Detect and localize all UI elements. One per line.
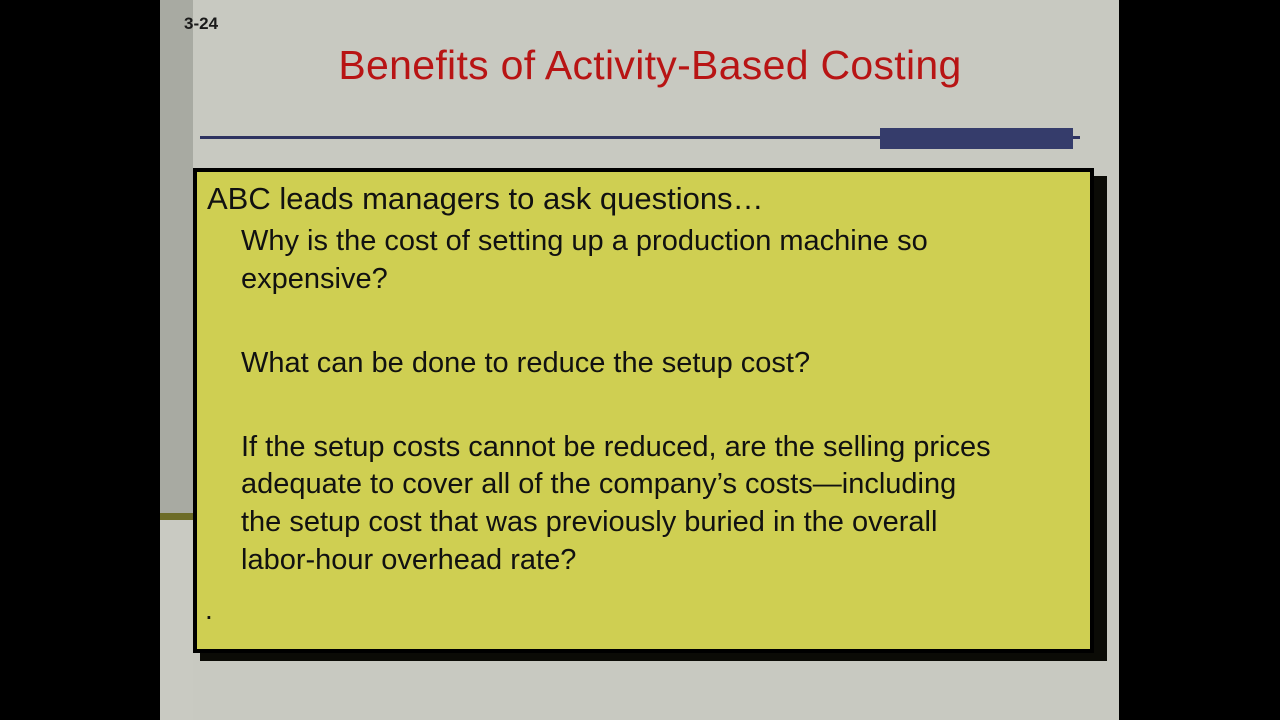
title-accent-block bbox=[880, 128, 1073, 149]
letterbox-stage: 3-24 Benefits of Activity-Based Costing … bbox=[0, 0, 1280, 720]
panel-lead-text: ABC leads managers to ask questions… bbox=[207, 182, 1076, 215]
question-3-line-2: adequate to cover all of the company’s c… bbox=[241, 466, 1076, 504]
question-block-3: If the setup costs cannot be reduced, ar… bbox=[241, 429, 1076, 580]
question-1-line-1: Why is the cost of setting up a producti… bbox=[241, 223, 1076, 261]
left-band-accent-strip bbox=[160, 513, 193, 520]
question-1-line-2: expensive? bbox=[241, 261, 1076, 299]
content-panel-inner: ABC leads managers to ask questions… Why… bbox=[197, 172, 1090, 649]
slide-number: 3-24 bbox=[184, 14, 218, 34]
left-decorative-band bbox=[160, 0, 193, 513]
question-3-line-3: the setup cost that was previously burie… bbox=[241, 504, 1076, 542]
question-block-1: Why is the cost of setting up a producti… bbox=[241, 223, 1076, 298]
question-block-2: What can be done to reduce the setup cos… bbox=[241, 345, 1076, 383]
presentation-slide: 3-24 Benefits of Activity-Based Costing … bbox=[160, 0, 1119, 720]
question-2-line-1: What can be done to reduce the setup cos… bbox=[241, 345, 1076, 383]
trailing-bullet-mark: . bbox=[205, 596, 213, 624]
question-3-line-4: labor-hour overhead rate? bbox=[241, 542, 1076, 580]
question-3-line-1: If the setup costs cannot be reduced, ar… bbox=[241, 429, 1076, 467]
left-band-lower bbox=[160, 520, 193, 720]
content-panel: ABC leads managers to ask questions… Why… bbox=[193, 168, 1094, 653]
page-title: Benefits of Activity-Based Costing bbox=[200, 42, 1100, 89]
